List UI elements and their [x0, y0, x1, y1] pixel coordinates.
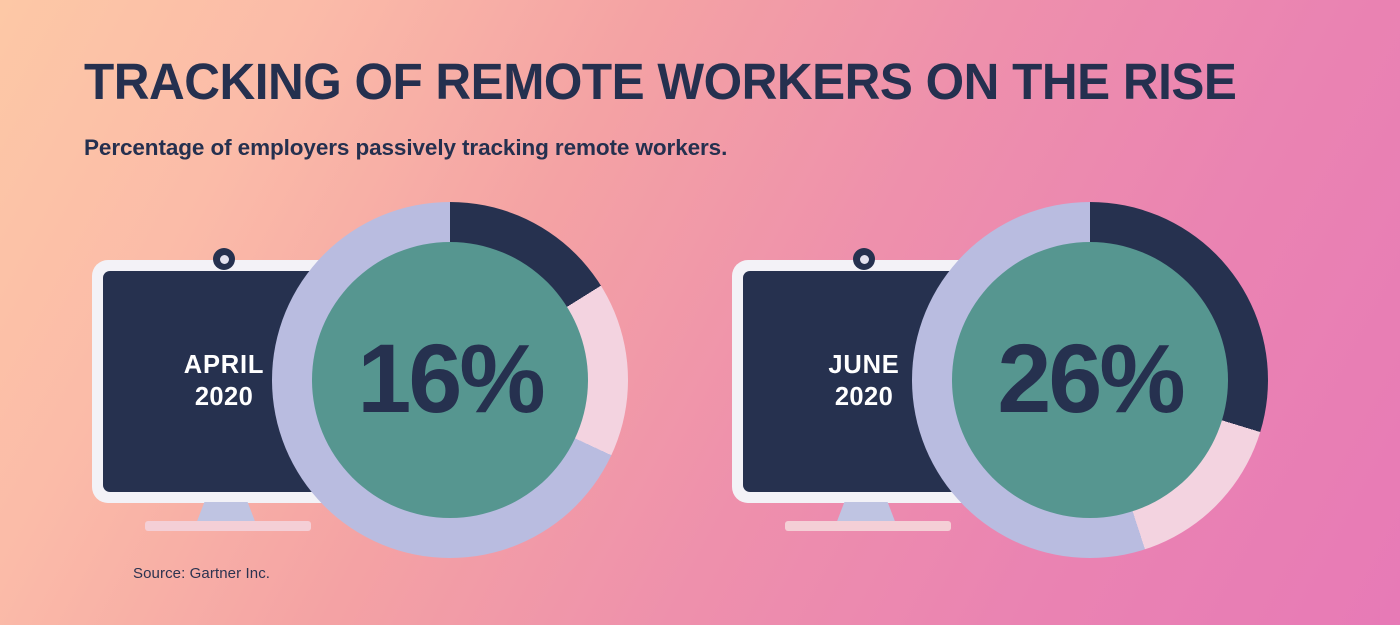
monitor-base	[145, 521, 311, 531]
donut-value-label: 26%	[997, 330, 1182, 427]
donut-chart-april: 16%	[272, 202, 628, 558]
monitor-base	[785, 521, 951, 531]
infographic-canvas: TRACKING OF REMOTE WORKERS ON THE RISE P…	[0, 0, 1400, 625]
monitor-label-month: APRIL	[184, 350, 265, 381]
monitor-label-year: 2020	[835, 382, 893, 413]
monitor-label-year: 2020	[195, 382, 253, 413]
camera-dot-icon	[213, 248, 235, 270]
source-note: Source: Gartner Inc.	[133, 565, 270, 582]
panel-april-2020: APRIL 2020 16%	[40, 0, 700, 625]
donut-value-label: 16%	[357, 330, 542, 427]
monitor-label-month: JUNE	[828, 350, 899, 381]
camera-dot-icon	[853, 248, 875, 270]
donut-center: 16%	[312, 242, 588, 518]
donut-center: 26%	[952, 242, 1228, 518]
donut-chart-june: 26%	[912, 202, 1268, 558]
panel-june-2020: JUNE 2020 26%	[680, 0, 1340, 625]
